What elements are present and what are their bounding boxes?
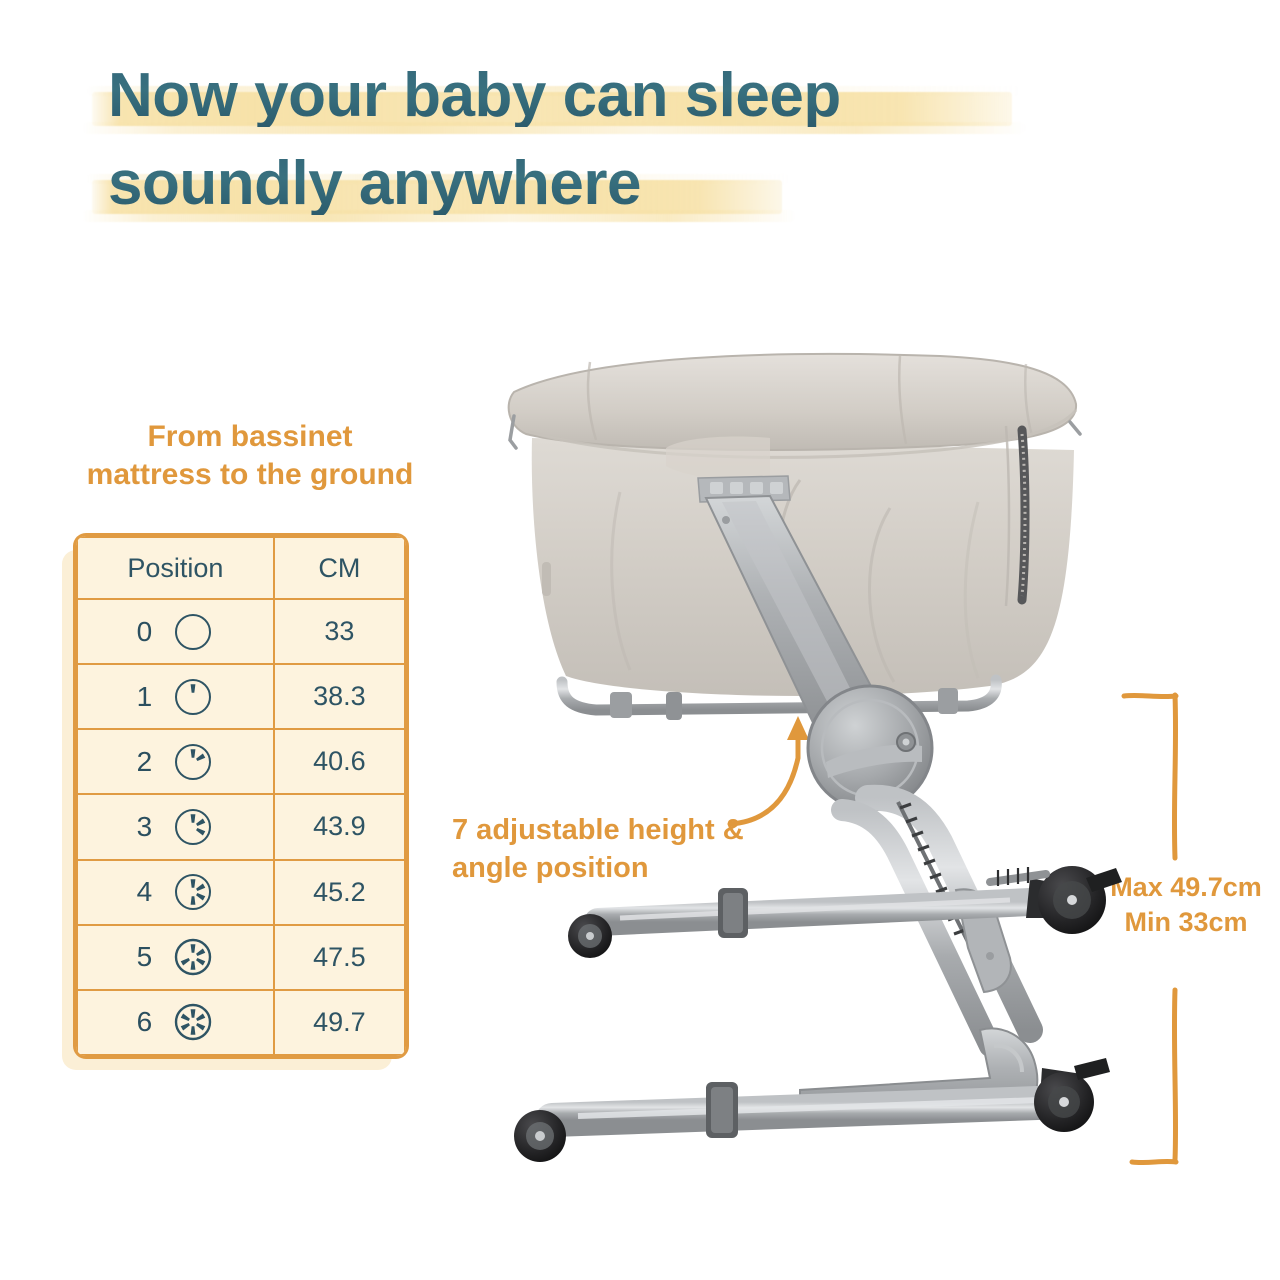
position-number: 4 [137, 876, 153, 908]
header-cm: CM [274, 537, 405, 599]
cell-cm-4: 45.2 [274, 860, 405, 925]
cell-cm-2: 40.6 [274, 729, 405, 794]
cell-position-1: 1 [77, 664, 274, 729]
headline-line-2: soundly anywhere [0, 140, 1280, 228]
position-number: 1 [137, 681, 153, 713]
table-row: 547.5 [77, 925, 405, 990]
table-caption-line-1: From bassinet [60, 418, 440, 456]
dial-icon-1 [172, 676, 214, 718]
headline-text-2: soundly anywhere [108, 153, 641, 215]
table-row: 343.9 [77, 794, 405, 859]
headline-text-1: Now your baby can sleep [108, 65, 841, 127]
cell-position-5: 5 [77, 925, 274, 990]
dial-icon-0 [172, 611, 214, 653]
cell-cm-3: 43.9 [274, 794, 405, 859]
cell-cm-6: 49.7 [274, 990, 405, 1055]
position-cm-table: Position CM 033138.3240.6343.9445.2547.5… [76, 536, 406, 1056]
upper-base-leg [568, 866, 1122, 958]
dial-icon-2 [172, 741, 214, 783]
table-caption: From bassinet mattress to the ground [60, 418, 440, 495]
position-number: 3 [137, 811, 153, 843]
dial-icon-5 [172, 936, 214, 978]
headline-line-1: Now your baby can sleep [0, 52, 1280, 140]
table-row: 240.6 [77, 729, 405, 794]
position-number: 5 [137, 941, 153, 973]
cell-position-3: 3 [77, 794, 274, 859]
cell-cm-5: 47.5 [274, 925, 405, 990]
header-position: Position [77, 537, 274, 599]
table-row: 138.3 [77, 664, 405, 729]
cell-position-0: 0 [77, 599, 274, 664]
position-number: 2 [137, 746, 153, 778]
telescoping-post [842, 788, 1070, 1190]
cell-position-2: 2 [77, 729, 274, 794]
table-row: 445.2 [77, 860, 405, 925]
dial-icon-4 [172, 871, 214, 913]
position-number: 6 [137, 1006, 153, 1038]
dial-icon-6 [172, 1001, 214, 1043]
table-header-row: Position CM [77, 537, 405, 599]
castor-wheel-upper-left [568, 914, 612, 958]
cell-position-6: 6 [77, 990, 274, 1055]
position-table-wrapper: Position CM 033138.3240.6343.9445.2547.5… [76, 536, 406, 1056]
cell-cm-0: 33 [274, 599, 405, 664]
castor-wheel-lower-right [1034, 1058, 1110, 1132]
cell-cm-1: 38.3 [274, 664, 405, 729]
position-number: 0 [137, 616, 153, 648]
table-row: 033 [77, 599, 405, 664]
bassinet-product-image [470, 330, 1150, 1190]
cell-position-4: 4 [77, 860, 274, 925]
dial-icon-3 [172, 806, 214, 848]
castor-wheel-lower-left [514, 1110, 566, 1162]
table-row: 649.7 [77, 990, 405, 1055]
page-headline: Now your baby can sleep soundly anywhere [0, 52, 1280, 228]
table-caption-line-2: mattress to the ground [60, 456, 440, 494]
